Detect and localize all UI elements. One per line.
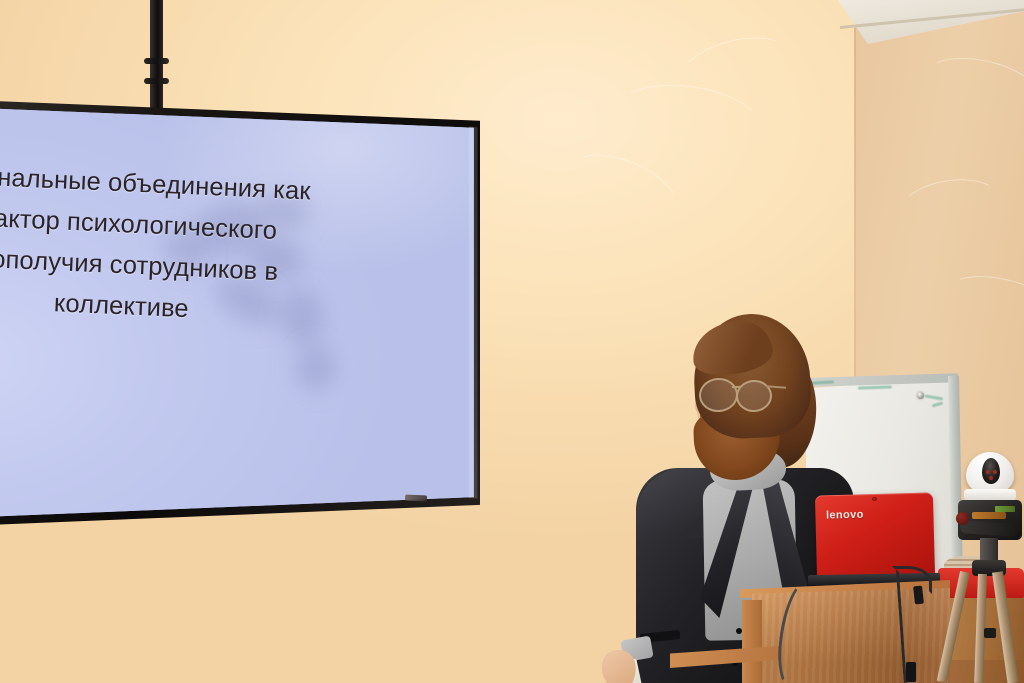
mount-bolt-icon <box>144 58 169 64</box>
tripod-lock-knob[interactable] <box>956 512 969 525</box>
screen-shadow <box>290 341 342 395</box>
camera-brand-label <box>978 492 1006 498</box>
photograph-scene: ссиональные объединения как фактор психо… <box>0 0 1024 683</box>
camera-lens-icon <box>982 458 1000 484</box>
cable-clip <box>913 586 924 605</box>
tripod-brand-badge <box>995 506 1015 512</box>
screw-icon <box>917 392 924 399</box>
ir-led-icon <box>986 470 990 474</box>
tripod-leg-lock[interactable] <box>984 628 996 638</box>
slide-title-text: ссиональные объединения как фактор психо… <box>0 150 427 341</box>
mount-bolt-icon <box>144 78 169 84</box>
cable-plug <box>906 662 916 682</box>
lectern-stem <box>742 600 762 683</box>
laptop-brand-label: lenovo <box>826 508 874 521</box>
ir-led-icon <box>993 470 997 474</box>
tv-ir-receiver-icon <box>405 495 427 502</box>
tripod-quick-release-plate[interactable] <box>972 512 1006 519</box>
laptop-camera-icon <box>872 497 877 501</box>
ir-led-icon <box>989 476 993 480</box>
